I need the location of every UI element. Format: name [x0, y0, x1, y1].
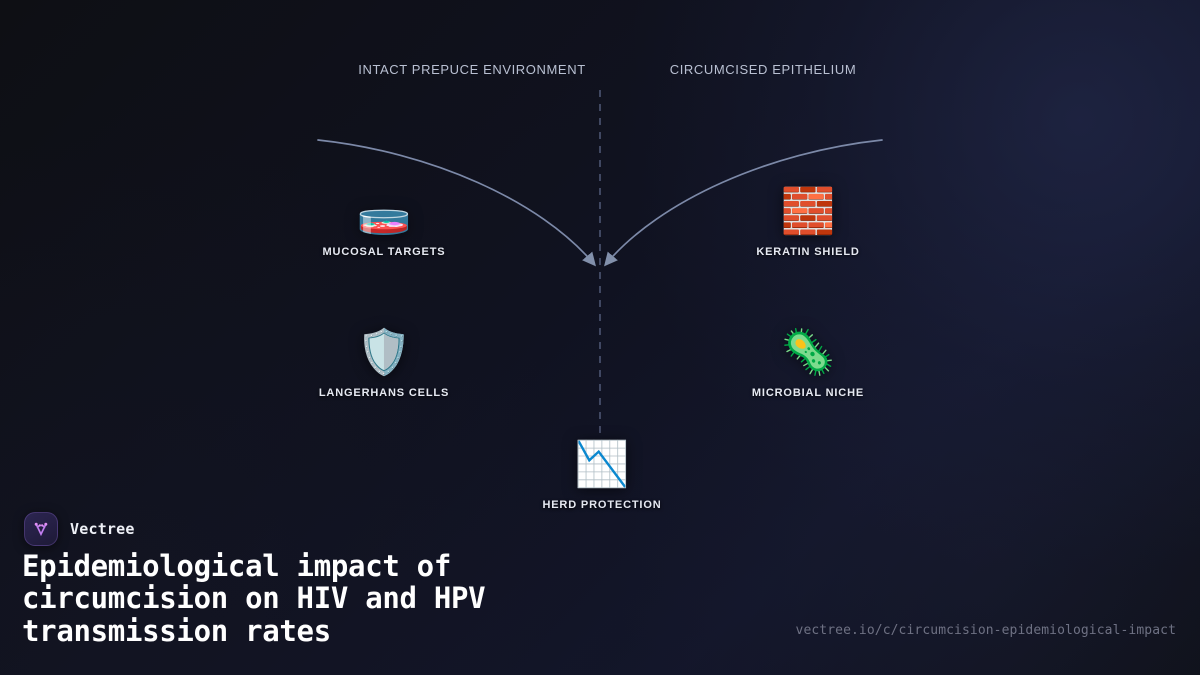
node-keratin-shield[interactable]: 🧱 KERATIN SHIELD [698, 184, 918, 258]
column-header-right: CIRCUMCISED EPITHELIUM [670, 62, 857, 77]
node-microbial-niche[interactable]: 🦠 MICROBIAL NICHE [698, 325, 918, 399]
node-label: HERD PROTECTION [542, 499, 661, 511]
node-mucosal-targets[interactable]: 🧫 MUCOSAL TARGETS [274, 184, 494, 258]
page-title: Epidemiological impact of circumcision o… [22, 550, 682, 647]
diagram-canvas: INTACT PREPUCE ENVIRONMENT CIRCUMCISED E… [0, 0, 1200, 675]
brick-wall-icon: 🧱 [781, 184, 836, 240]
node-label: MICROBIAL NICHE [752, 387, 864, 399]
microbe-icon: 🦠 [781, 325, 836, 381]
chart-decreasing-icon: 📉 [575, 437, 630, 493]
node-langerhans-cells[interactable]: 🛡️ LANGERHANS CELLS [274, 325, 494, 399]
brand-name: Vectree [70, 520, 135, 538]
shield-icon: 🛡️ [357, 325, 412, 381]
node-label: MUCOSAL TARGETS [323, 246, 446, 258]
petri-dish-icon: 🧫 [357, 184, 412, 240]
vectree-logo-icon [24, 512, 58, 546]
column-header-left: INTACT PREPUCE ENVIRONMENT [358, 62, 585, 77]
node-label: LANGERHANS CELLS [319, 387, 449, 399]
brand[interactable]: Vectree [24, 512, 135, 546]
node-herd-protection[interactable]: 📉 HERD PROTECTION [492, 437, 712, 511]
source-url: vectree.io/c/circumcision-epidemiologica… [796, 623, 1176, 638]
node-label: KERATIN SHIELD [756, 246, 859, 258]
